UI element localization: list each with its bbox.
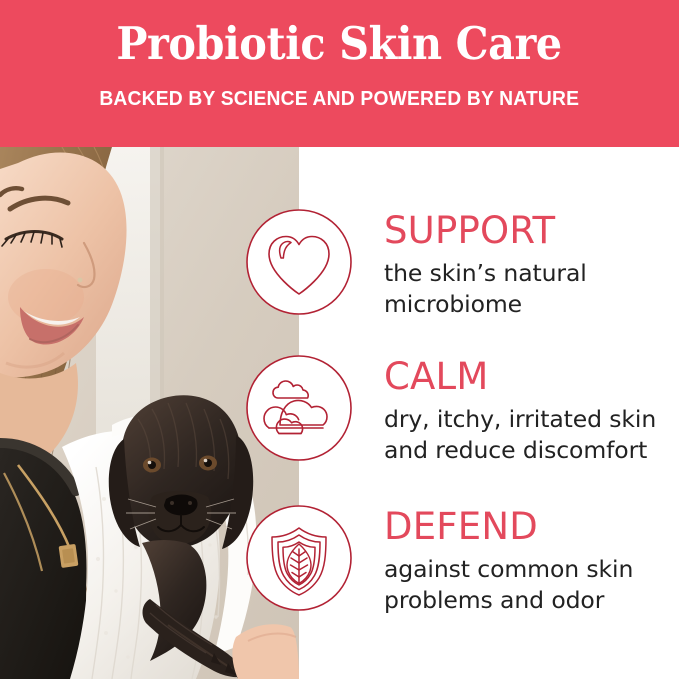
feature-item-defend: DEFEND against common skin problems and … xyxy=(0,504,679,616)
page-title: Probiotic Skin Care xyxy=(117,18,562,70)
shield-leaf-icon xyxy=(245,504,353,612)
feature-item-support: SUPPORT the skin’s natural microbiome xyxy=(0,208,679,320)
feature-text-support: SUPPORT the skin’s natural microbiome xyxy=(384,208,679,320)
feature-description-line: dry, itchy, irritated skin xyxy=(384,404,679,435)
feature-description-line: and reduce discomfort xyxy=(384,435,679,466)
feature-text-calm: CALM dry, itchy, irritated skin and redu… xyxy=(384,354,679,466)
clouds-bubbles-icon xyxy=(245,354,353,462)
feature-description-line: microbiome xyxy=(384,289,679,320)
product-infographic: Probiotic Skin Care BACKED BY SCIENCE AN… xyxy=(0,0,679,679)
header-banner: Probiotic Skin Care BACKED BY SCIENCE AN… xyxy=(0,0,679,147)
feature-description-line: against common skin xyxy=(384,554,679,585)
feature-item-calm: CALM dry, itchy, irritated skin and redu… xyxy=(0,354,679,466)
heart-icon xyxy=(245,208,353,316)
feature-description: against common skin problems and odor xyxy=(384,554,679,616)
page-subtitle: BACKED BY SCIENCE AND POWERED BY NATURE xyxy=(100,87,580,111)
feature-description-line: problems and odor xyxy=(384,585,679,616)
feature-heading: DEFEND xyxy=(384,506,679,548)
feature-description: dry, itchy, irritated skin and reduce di… xyxy=(384,404,679,466)
feature-list: SUPPORT the skin’s natural microbiome xyxy=(0,147,679,679)
feature-heading: CALM xyxy=(384,356,679,398)
feature-description-line: the skin’s natural xyxy=(384,258,679,289)
feature-heading: SUPPORT xyxy=(384,210,679,252)
feature-description: the skin’s natural microbiome xyxy=(384,258,679,320)
feature-text-defend: DEFEND against common skin problems and … xyxy=(384,504,679,616)
